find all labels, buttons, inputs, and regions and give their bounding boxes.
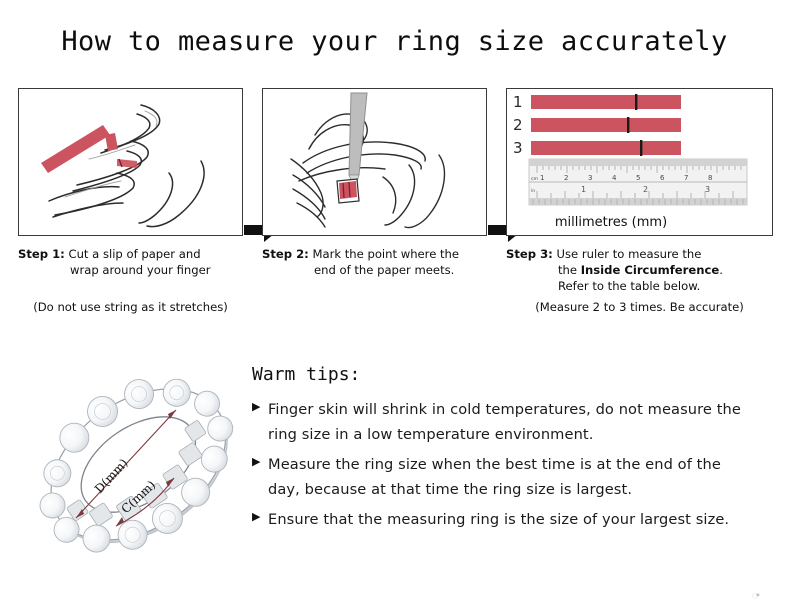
step-3-column: 1 2 3 bbox=[506, 88, 773, 314]
inch-tick-3: 3 bbox=[705, 185, 710, 194]
step-3-emphasis: Inside Circumference bbox=[581, 263, 720, 277]
inch-tick-2: 2 bbox=[643, 185, 648, 194]
hand-marking-paper-with-pen-icon bbox=[263, 89, 486, 235]
step-2-label: Step 2: bbox=[262, 247, 309, 261]
tip-item: ▶ Finger skin will shrink in cold temper… bbox=[252, 397, 752, 447]
step-2-line2: end of the paper meets. bbox=[262, 262, 487, 278]
tip-item: ▶ Measure the ring size when the best ti… bbox=[252, 452, 752, 502]
cm-unit-mark: cm bbox=[531, 177, 539, 182]
cm-tick-1: 1 bbox=[540, 174, 544, 182]
step-1-illustration-panel bbox=[18, 88, 243, 236]
step-1-caption: Step 1: Cut a slip of paper and wrap aro… bbox=[18, 246, 243, 278]
page-title: How to measure your ring size accurately bbox=[0, 26, 789, 57]
eternity-ring-icon: D(mm) C(mm) bbox=[28, 352, 253, 587]
step-2-line1: Mark the point where the bbox=[312, 247, 459, 261]
unit-caption: millimetres (mm) bbox=[555, 215, 667, 230]
tip-text: Measure the ring size when the best time… bbox=[268, 452, 752, 502]
cm-tick-4: 4 bbox=[612, 174, 617, 182]
step-1-column: Step 1: Cut a slip of paper and wrap aro… bbox=[18, 88, 243, 314]
mark-line-1 bbox=[635, 94, 637, 110]
ruler-shape: 1 2 3 4 5 6 7 8 cm bbox=[529, 159, 747, 205]
step-3-line2: the bbox=[558, 263, 581, 277]
tip-text: Ensure that the measuring ring is the si… bbox=[268, 507, 752, 532]
cm-tick-8: 8 bbox=[708, 174, 712, 182]
cm-tick-3: 3 bbox=[588, 174, 592, 182]
mark-line-2 bbox=[627, 117, 629, 133]
cm-tick-2: 2 bbox=[564, 174, 568, 182]
paper-strip-shape bbox=[41, 125, 110, 173]
paper-strips-over-ruler-icon: 1 2 3 bbox=[507, 89, 772, 235]
strip-number-1: 1 bbox=[513, 93, 523, 111]
bullet-triangle-icon: ▶ bbox=[252, 507, 268, 522]
mark-line-3 bbox=[640, 140, 642, 156]
hand-with-paper-strip-icon bbox=[19, 89, 242, 235]
step-1-line1: Cut a slip of paper and bbox=[68, 247, 200, 261]
step-3-line2-tail: . bbox=[719, 263, 723, 277]
cm-tick-6: 6 bbox=[660, 174, 665, 182]
step-3-line1: Use ruler to measure the bbox=[556, 247, 701, 261]
ring-diagram: D(mm) C(mm) bbox=[28, 352, 253, 587]
step-1-label: Step 1: bbox=[18, 247, 65, 261]
paper-strip-row-3 bbox=[531, 141, 681, 155]
cm-tick-7: 7 bbox=[684, 174, 688, 182]
step-2-illustration-panel bbox=[262, 88, 487, 236]
corner-watermark-icon bbox=[752, 592, 760, 600]
step-2-column: Step 2: Mark the point where the end of … bbox=[262, 88, 487, 278]
step-3-label: Step 3: bbox=[506, 247, 553, 261]
step-2-caption: Step 2: Mark the point where the end of … bbox=[262, 246, 487, 278]
bullet-triangle-icon: ▶ bbox=[252, 452, 268, 467]
step-3-line3: Refer to the table below. bbox=[506, 278, 773, 294]
warm-tips-heading: Warm tips: bbox=[252, 364, 752, 385]
paper-strip-row-2 bbox=[531, 118, 681, 132]
strip-number-2: 2 bbox=[513, 116, 523, 134]
warm-tips-section: Warm tips: ▶ Finger skin will shrink in … bbox=[252, 364, 752, 537]
bullet-triangle-icon: ▶ bbox=[252, 397, 268, 412]
step-3-caption: Step 3: Use ruler to measure the the Ins… bbox=[506, 246, 773, 294]
step-3-illustration-panel: 1 2 3 bbox=[506, 88, 773, 236]
strip-number-3: 3 bbox=[513, 139, 523, 157]
inch-tick-1: 1 bbox=[581, 185, 586, 194]
step-1-note: (Do not use string as it stretches) bbox=[18, 300, 243, 314]
tip-text: Finger skin will shrink in cold temperat… bbox=[268, 397, 752, 447]
step-3-note: (Measure 2 to 3 times. Be accurate) bbox=[506, 300, 773, 314]
pen-shape bbox=[349, 93, 367, 189]
tip-item: ▶ Ensure that the measuring ring is the … bbox=[252, 507, 752, 532]
cm-tick-5: 5 bbox=[636, 174, 640, 182]
inch-unit-mark: in bbox=[531, 188, 535, 194]
paper-strip-row-1 bbox=[531, 95, 681, 109]
step-1-line2: wrap around your finger bbox=[18, 262, 243, 278]
